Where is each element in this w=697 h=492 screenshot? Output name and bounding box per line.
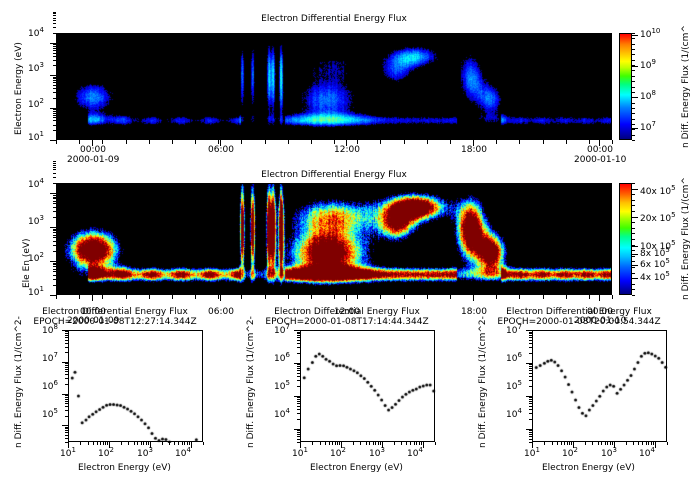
y-minor-tick bbox=[53, 60, 56, 61]
bottom-2-plot-area bbox=[300, 330, 435, 442]
colorbar-minor-tick bbox=[632, 113, 635, 114]
top-colorbar bbox=[619, 33, 632, 140]
y-minor-tick bbox=[65, 397, 68, 398]
y-major-tick bbox=[50, 75, 56, 76]
colorbar-minor-tick bbox=[632, 267, 635, 268]
y-minor-tick bbox=[297, 432, 300, 433]
y-minor-tick bbox=[529, 347, 532, 348]
bottom-3-xtick-2: 102 bbox=[562, 449, 578, 459]
x-tick bbox=[357, 140, 358, 144]
middle-colorbar bbox=[619, 183, 632, 295]
y-minor-tick bbox=[65, 337, 68, 338]
colorbar-minor-tick bbox=[632, 261, 635, 262]
x-minor-tick bbox=[88, 442, 89, 445]
y-minor-tick bbox=[65, 331, 68, 332]
y-minor-tick bbox=[65, 410, 68, 411]
bottom-1-xtick-2: 102 bbox=[98, 449, 114, 459]
bottom-1-ytick-6: 106 bbox=[42, 382, 58, 392]
x-tick bbox=[56, 295, 57, 299]
bottom-panel-3: Electron Differential Energy Flux EPOCH=… bbox=[464, 300, 697, 492]
top-panel: Electron Differential Energy Flux Electr… bbox=[0, 0, 697, 175]
y-minor-tick bbox=[529, 434, 532, 435]
x-major-tick bbox=[68, 442, 69, 448]
y-minor-tick bbox=[53, 53, 56, 54]
bottom-3-ylabel: n Diff. Energy Flux (1/(cm^2- bbox=[478, 316, 488, 448]
y-major-tick bbox=[294, 363, 300, 364]
x-minor-tick bbox=[187, 442, 188, 445]
x-tick bbox=[450, 295, 451, 299]
bottom-panel-2: Electron Differential Energy Flux EPOCH=… bbox=[232, 300, 464, 492]
x-minor-tick bbox=[107, 442, 108, 445]
x-minor-tick bbox=[100, 442, 101, 445]
y-minor-tick bbox=[297, 401, 300, 402]
y-minor-tick bbox=[53, 56, 56, 57]
x-minor-tick bbox=[612, 442, 613, 445]
x-tick bbox=[427, 140, 428, 144]
x-minor-tick bbox=[567, 442, 568, 445]
x-minor-tick bbox=[103, 442, 104, 445]
colorbar-minor-tick bbox=[632, 189, 635, 190]
x-tick bbox=[288, 295, 289, 299]
bottom-2-xtick-3: 103 bbox=[369, 449, 385, 459]
y-minor-tick bbox=[53, 235, 56, 236]
y-minor-tick bbox=[65, 406, 68, 407]
x-minor-tick bbox=[571, 442, 572, 445]
colorbar-minor-tick bbox=[632, 233, 635, 234]
colorbar-minor-tick bbox=[632, 217, 635, 218]
y-minor-tick bbox=[53, 20, 56, 21]
y-minor-tick bbox=[53, 88, 56, 89]
bottom-1-xtick-3: 103 bbox=[137, 449, 153, 459]
y-minor-tick bbox=[297, 403, 300, 404]
y-minor-tick bbox=[297, 366, 300, 367]
x-minor-tick bbox=[610, 442, 611, 445]
y-minor-tick bbox=[65, 432, 68, 433]
bottom-2-ytick-5: 105 bbox=[274, 382, 290, 392]
x-minor-tick bbox=[557, 442, 558, 445]
x-tick bbox=[311, 295, 312, 299]
y-minor-tick bbox=[53, 117, 56, 118]
y-minor-tick bbox=[53, 13, 56, 14]
x-tick bbox=[79, 295, 80, 299]
y-minor-tick bbox=[65, 438, 68, 439]
middle-panel: Electron Differential Energy Flux Ele En… bbox=[0, 160, 697, 320]
x-minor-tick bbox=[369, 442, 370, 445]
colorbar-minor-tick bbox=[632, 284, 635, 285]
x-minor-tick bbox=[414, 442, 415, 445]
y-major-tick bbox=[294, 396, 300, 397]
x-minor-tick bbox=[143, 442, 144, 445]
x-major-tick bbox=[341, 442, 342, 448]
colorbar-minor-tick bbox=[632, 38, 635, 39]
y-minor-tick bbox=[53, 195, 56, 196]
x-minor-tick bbox=[337, 442, 338, 445]
x-minor-tick bbox=[329, 442, 330, 445]
y-minor-tick bbox=[297, 376, 300, 377]
y-minor-tick bbox=[65, 401, 68, 402]
bottom-3-ytick-7: 107 bbox=[506, 326, 522, 336]
y-minor-tick bbox=[297, 333, 300, 334]
y-minor-tick bbox=[297, 430, 300, 431]
y-minor-tick bbox=[297, 364, 300, 365]
x-minor-tick bbox=[93, 442, 94, 445]
x-tick bbox=[195, 295, 196, 299]
x-minor-tick bbox=[378, 442, 379, 445]
x-minor-tick bbox=[332, 442, 333, 445]
middle-ytick-2: 102 bbox=[28, 254, 44, 264]
colorbar-minor-tick bbox=[632, 119, 635, 120]
colorbar-minor-tick bbox=[632, 211, 635, 212]
y-minor-tick bbox=[297, 380, 300, 381]
x-minor-tick bbox=[184, 442, 185, 445]
x-minor-tick bbox=[380, 442, 381, 445]
x-tick bbox=[566, 140, 567, 144]
colorbar-minor-tick bbox=[632, 256, 635, 257]
bottom-3-ytick-5: 105 bbox=[506, 382, 522, 392]
middle-cbar-tick-40: 40x 105 bbox=[640, 187, 676, 197]
colorbar-minor-tick bbox=[632, 44, 635, 45]
x-tick bbox=[241, 295, 242, 299]
colorbar-minor-tick bbox=[632, 76, 635, 77]
x-minor-tick bbox=[667, 442, 668, 445]
x-minor-tick bbox=[373, 442, 374, 445]
x-major-tick bbox=[382, 442, 383, 448]
y-minor-tick bbox=[53, 44, 56, 45]
x-tick bbox=[102, 295, 103, 299]
y-major-tick bbox=[62, 425, 68, 426]
colorbar-minor-tick bbox=[632, 124, 635, 125]
y-minor-tick bbox=[53, 183, 56, 184]
y-minor-tick bbox=[529, 399, 532, 400]
x-tick bbox=[543, 140, 544, 144]
colorbar-minor-tick bbox=[632, 81, 635, 82]
y-minor-tick bbox=[53, 113, 56, 114]
top-ytick-3: 103 bbox=[28, 64, 44, 74]
bottom-2-xtick-4: 104 bbox=[407, 449, 423, 459]
y-minor-tick bbox=[529, 401, 532, 402]
y-minor-tick bbox=[65, 367, 68, 368]
x-tick bbox=[288, 140, 289, 144]
y-minor-tick bbox=[53, 163, 56, 164]
colorbar-minor-tick bbox=[632, 200, 635, 201]
y-minor-tick bbox=[53, 161, 56, 162]
x-minor-tick bbox=[80, 442, 81, 445]
x-minor-tick bbox=[435, 442, 436, 445]
bottom-2-xtick-1: 101 bbox=[292, 449, 308, 459]
x-minor-tick bbox=[633, 442, 634, 445]
colorbar-minor-tick bbox=[632, 103, 635, 104]
colorbar-minor-tick bbox=[632, 54, 635, 55]
colorbar-minor-tick bbox=[632, 222, 635, 223]
y-minor-tick bbox=[65, 369, 68, 370]
y-major-tick bbox=[526, 396, 532, 397]
x-minor-tick bbox=[325, 442, 326, 445]
x-tick bbox=[404, 140, 405, 144]
x-minor-tick bbox=[585, 442, 586, 445]
y-minor-tick bbox=[53, 15, 56, 16]
top-xtick-3: 18:00 bbox=[461, 145, 487, 155]
x-tick bbox=[519, 140, 520, 144]
y-major-tick bbox=[50, 227, 56, 228]
x-tick bbox=[265, 140, 266, 144]
bottom-1-ytick-8: 108 bbox=[42, 326, 58, 336]
x-tick bbox=[357, 295, 358, 299]
x-minor-tick bbox=[410, 442, 411, 445]
top-xtick-0: 00:00 bbox=[80, 145, 106, 155]
y-minor-tick bbox=[529, 368, 532, 369]
top-cbar-tick-9: 109 bbox=[640, 61, 656, 71]
y-minor-tick bbox=[529, 332, 532, 333]
bottom-2-ylabel: n Diff. Energy Flux (1/(cm^2- bbox=[246, 316, 256, 448]
y-minor-tick bbox=[53, 130, 56, 131]
y-minor-tick bbox=[297, 434, 300, 435]
x-tick bbox=[195, 140, 196, 144]
y-minor-tick bbox=[65, 403, 68, 404]
y-minor-tick bbox=[53, 230, 56, 231]
bottom-3-xtick-4: 104 bbox=[639, 449, 655, 459]
y-minor-tick bbox=[297, 436, 300, 437]
x-tick bbox=[56, 140, 57, 144]
y-minor-tick bbox=[65, 399, 68, 400]
x-minor-tick bbox=[598, 442, 599, 445]
x-major-tick bbox=[599, 140, 600, 146]
top-ytick-2: 102 bbox=[28, 100, 44, 110]
y-minor-tick bbox=[529, 403, 532, 404]
x-minor-tick bbox=[178, 442, 179, 445]
y-minor-tick bbox=[53, 203, 56, 204]
x-minor-tick bbox=[174, 442, 175, 445]
top-colorbar-label: n Diff. Energy Flux (1/(cm^ bbox=[681, 25, 691, 148]
x-minor-tick bbox=[320, 442, 321, 445]
bottom-3-xlabel: Electron Energy (eV) bbox=[542, 463, 635, 473]
y-minor-tick bbox=[53, 48, 56, 49]
y-minor-tick bbox=[529, 397, 532, 398]
bottom-2-xtick-2: 102 bbox=[330, 449, 346, 459]
colorbar-tick bbox=[632, 254, 638, 255]
x-minor-tick bbox=[97, 442, 98, 445]
x-minor-tick bbox=[203, 442, 204, 445]
bottom-1-plot-area bbox=[68, 330, 203, 442]
y-minor-tick bbox=[53, 201, 56, 202]
x-tick bbox=[149, 295, 150, 299]
y-minor-tick bbox=[53, 12, 56, 13]
x-tick bbox=[172, 295, 173, 299]
y-minor-tick bbox=[529, 335, 532, 336]
y-minor-tick bbox=[53, 237, 56, 238]
x-minor-tick bbox=[561, 442, 562, 445]
y-minor-tick bbox=[297, 397, 300, 398]
x-minor-tick bbox=[419, 442, 420, 445]
y-minor-tick bbox=[529, 364, 532, 365]
x-minor-tick bbox=[366, 442, 367, 445]
x-major-tick bbox=[150, 442, 151, 448]
x-major-tick bbox=[109, 442, 110, 448]
y-minor-tick bbox=[297, 373, 300, 374]
x-minor-tick bbox=[394, 442, 395, 445]
y-minor-tick bbox=[297, 406, 300, 407]
bottom-3-ytick-4: 104 bbox=[506, 410, 522, 420]
x-major-tick bbox=[300, 442, 301, 448]
y-minor-tick bbox=[53, 46, 56, 47]
y-minor-tick bbox=[65, 374, 68, 375]
x-tick bbox=[149, 140, 150, 144]
x-tick bbox=[427, 295, 428, 299]
x-major-tick bbox=[573, 442, 574, 448]
x-tick bbox=[126, 295, 127, 299]
x-minor-tick bbox=[421, 442, 422, 445]
colorbar-minor-tick bbox=[632, 135, 635, 136]
colorbar-minor-tick bbox=[632, 65, 635, 66]
x-minor-tick bbox=[141, 442, 142, 445]
x-minor-tick bbox=[162, 442, 163, 445]
colorbar-minor-tick bbox=[632, 228, 635, 229]
x-tick bbox=[543, 295, 544, 299]
x-minor-tick bbox=[105, 442, 106, 445]
y-minor-tick bbox=[53, 65, 56, 66]
x-major-tick bbox=[655, 442, 656, 448]
x-minor-tick bbox=[148, 442, 149, 445]
y-minor-tick bbox=[529, 337, 532, 338]
y-minor-tick bbox=[53, 211, 56, 212]
colorbar-tick bbox=[632, 66, 638, 67]
x-minor-tick bbox=[335, 442, 336, 445]
x-minor-tick bbox=[134, 442, 135, 445]
y-minor-tick bbox=[53, 78, 56, 79]
y-minor-tick bbox=[65, 427, 68, 428]
x-tick bbox=[519, 295, 520, 299]
y-minor-tick bbox=[53, 241, 56, 242]
y-minor-tick bbox=[529, 333, 532, 334]
colorbar-minor-tick bbox=[632, 70, 635, 71]
y-major-tick bbox=[526, 429, 532, 430]
x-tick bbox=[496, 140, 497, 144]
colorbar-tick bbox=[632, 246, 638, 247]
x-major-tick bbox=[614, 442, 615, 448]
y-minor-tick bbox=[297, 353, 300, 354]
x-tick bbox=[496, 295, 497, 299]
x-major-tick bbox=[532, 442, 533, 448]
y-minor-tick bbox=[297, 399, 300, 400]
x-minor-tick bbox=[128, 442, 129, 445]
y-minor-tick bbox=[529, 413, 532, 414]
y-minor-tick bbox=[53, 263, 56, 264]
bottom-3-xtick-1: 101 bbox=[524, 449, 540, 459]
y-minor-tick bbox=[53, 275, 56, 276]
y-minor-tick bbox=[53, 77, 56, 78]
x-minor-tick bbox=[406, 442, 407, 445]
y-minor-tick bbox=[529, 366, 532, 367]
y-minor-tick bbox=[65, 384, 68, 385]
top-xtick-2: 12:00 bbox=[334, 145, 360, 155]
middle-ytick-3: 103 bbox=[28, 217, 44, 227]
top-panel-title: Electron Differential Energy Flux bbox=[56, 14, 612, 25]
colorbar-minor-tick bbox=[632, 33, 635, 34]
top-xtick-1: 06:00 bbox=[208, 145, 234, 155]
x-minor-tick bbox=[592, 442, 593, 445]
y-minor-tick bbox=[53, 245, 56, 246]
x-minor-tick bbox=[121, 442, 122, 445]
colorbar-minor-tick bbox=[632, 205, 635, 206]
bottom-2-ytick-6: 106 bbox=[274, 354, 290, 364]
x-minor-tick bbox=[651, 442, 652, 445]
y-minor-tick bbox=[297, 368, 300, 369]
y-minor-tick bbox=[65, 442, 68, 443]
x-minor-tick bbox=[552, 442, 553, 445]
top-xtick-4: 00:00 bbox=[587, 145, 613, 155]
x-minor-tick bbox=[564, 442, 565, 445]
colorbar-tick bbox=[632, 35, 638, 36]
colorbar-minor-tick bbox=[632, 87, 635, 88]
y-minor-tick bbox=[53, 169, 56, 170]
y-minor-tick bbox=[297, 343, 300, 344]
y-minor-tick bbox=[53, 33, 56, 34]
top-cbar-tick-7: 107 bbox=[640, 123, 656, 133]
y-minor-tick bbox=[53, 82, 56, 83]
y-minor-tick bbox=[53, 98, 56, 99]
x-minor-tick bbox=[375, 442, 376, 445]
y-minor-tick bbox=[53, 232, 56, 233]
colorbar-minor-tick bbox=[632, 97, 635, 98]
y-minor-tick bbox=[65, 416, 68, 417]
y-minor-tick bbox=[297, 413, 300, 414]
y-minor-tick bbox=[53, 271, 56, 272]
x-major-tick bbox=[92, 140, 93, 146]
colorbar-minor-tick bbox=[632, 92, 635, 93]
x-minor-tick bbox=[169, 442, 170, 445]
y-minor-tick bbox=[53, 109, 56, 110]
top-panel-ylabel: Electron Energy (eV) bbox=[14, 42, 24, 135]
x-tick bbox=[218, 295, 219, 299]
y-minor-tick bbox=[297, 347, 300, 348]
y-minor-tick bbox=[529, 419, 532, 420]
y-minor-tick bbox=[53, 85, 56, 86]
colorbar-minor-tick bbox=[632, 295, 635, 296]
middle-cbar-tick-20: 20x 105 bbox=[640, 214, 676, 224]
x-tick bbox=[334, 140, 335, 144]
bottom-panel-1: Electron Differential Energy Flux EPOCH=… bbox=[0, 300, 232, 492]
x-tick bbox=[450, 140, 451, 144]
bottom-2-ytick-4: 104 bbox=[274, 410, 290, 420]
x-minor-tick bbox=[646, 442, 647, 445]
y-minor-tick bbox=[297, 439, 300, 440]
colorbar-minor-tick bbox=[632, 129, 635, 130]
y-minor-tick bbox=[53, 27, 56, 28]
y-minor-tick bbox=[53, 125, 56, 126]
y-minor-tick bbox=[53, 92, 56, 93]
y-minor-tick bbox=[297, 419, 300, 420]
y-minor-tick bbox=[529, 353, 532, 354]
x-major-tick bbox=[220, 140, 221, 146]
x-minor-tick bbox=[182, 442, 183, 445]
y-minor-tick bbox=[529, 386, 532, 387]
y-minor-tick bbox=[529, 442, 532, 443]
y-minor-tick bbox=[65, 378, 68, 379]
colorbar-minor-tick bbox=[632, 278, 635, 279]
colorbar-minor-tick bbox=[632, 289, 635, 290]
y-minor-tick bbox=[529, 370, 532, 371]
colorbar-minor-tick bbox=[632, 250, 635, 251]
middle-panel-title: Electron Differential Energy Flux bbox=[56, 170, 612, 181]
x-minor-tick bbox=[626, 442, 627, 445]
y-major-tick bbox=[62, 362, 68, 363]
x-minor-tick bbox=[642, 442, 643, 445]
x-major-tick bbox=[473, 140, 474, 146]
y-minor-tick bbox=[53, 198, 56, 199]
middle-colorbar-label: n Diff. Energy Flux (1/(cm^ bbox=[681, 177, 691, 300]
y-minor-tick bbox=[297, 332, 300, 333]
colorbar-minor-tick bbox=[632, 60, 635, 61]
y-minor-tick bbox=[53, 279, 56, 280]
